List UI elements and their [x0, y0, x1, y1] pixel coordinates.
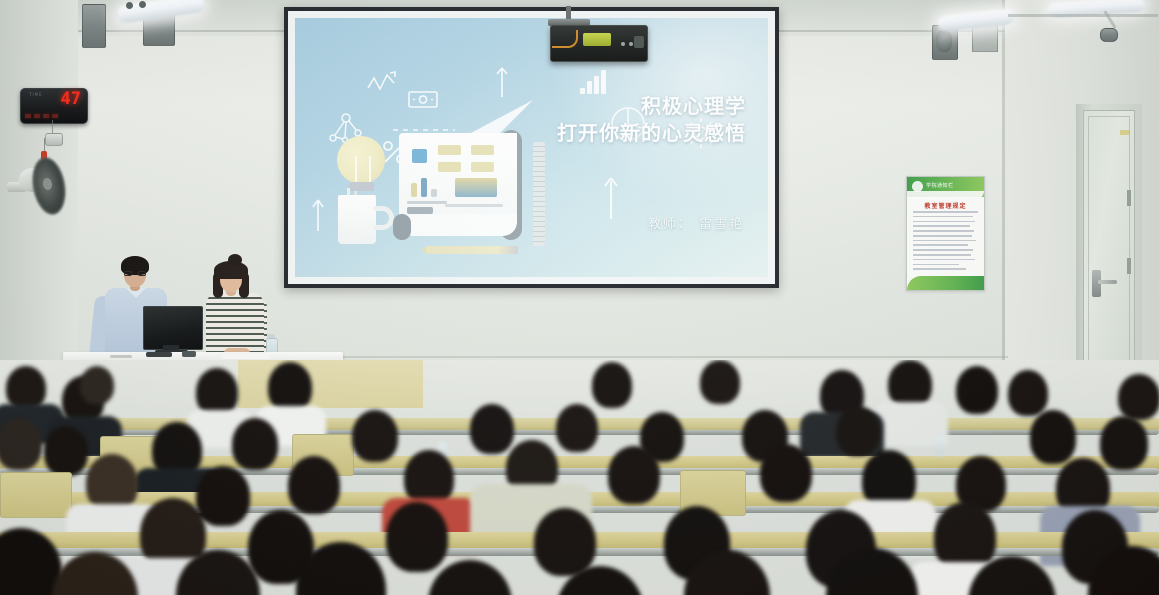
- audience-head: [470, 404, 514, 454]
- projector-display-panel: [583, 33, 611, 46]
- poster-title: 教室管理规定: [907, 201, 984, 210]
- document-curl: [399, 214, 517, 236]
- audience-head: [760, 444, 812, 502]
- audience-head: [836, 406, 880, 456]
- speaker-cone-icon: [936, 30, 952, 52]
- fan-cord: [44, 138, 45, 152]
- audience-head: [700, 360, 740, 404]
- audience-head: [80, 366, 114, 404]
- doc-line: [445, 204, 503, 207]
- ceiling-conduit: [1008, 14, 1158, 17]
- poster-header-text: 学院通知栏: [926, 182, 954, 189]
- chair-back: [0, 472, 72, 518]
- doc-bar: [421, 178, 427, 197]
- desk-cable: [110, 355, 132, 358]
- slide-title-line1: 积极心理学: [557, 93, 746, 120]
- lecture-hall-photo: TIME 47 88 88 88 88: [0, 0, 1159, 595]
- doc-bar: [431, 189, 437, 197]
- rear-board: [238, 360, 423, 408]
- clock-secondary-readout: 88 88 88 88: [25, 114, 83, 120]
- clock-segment: 88: [34, 114, 40, 120]
- door-hinge: [1127, 258, 1131, 274]
- clock-segment: 88: [25, 114, 31, 120]
- audience-area: [0, 360, 1159, 595]
- desk-papers: [222, 352, 270, 359]
- audience-head: [1008, 370, 1048, 416]
- wall-socket: [45, 133, 63, 146]
- audience-head: [44, 426, 88, 476]
- doc-tile: [412, 149, 427, 163]
- clock-digits: 47: [61, 91, 81, 108]
- audience-head: [1030, 410, 1076, 464]
- lightbulb-base: [349, 182, 374, 191]
- audience-head: [196, 466, 250, 526]
- audience-head: [534, 508, 596, 576]
- line-chart-icon: [367, 70, 407, 94]
- doc-tile: [471, 145, 494, 155]
- audience-head: [268, 362, 312, 412]
- audience-head: [888, 360, 932, 408]
- up-arrow-icon: [311, 198, 325, 232]
- doc-line: [407, 201, 447, 204]
- audience-head: [1100, 416, 1148, 470]
- doc-tile: [471, 162, 494, 172]
- door-sticker: [1120, 130, 1130, 135]
- audience-head: [608, 446, 660, 504]
- projector-indicator: [629, 42, 633, 46]
- glasses-icon: [124, 271, 146, 276]
- projector-lens-icon: [634, 36, 644, 48]
- light-endcap: [139, 1, 146, 8]
- presenter-monitor: [143, 306, 203, 350]
- slide-title-line2: 打开你新的心灵感悟: [557, 120, 746, 147]
- doc-tile: [438, 145, 461, 155]
- door-hinge: [1127, 190, 1131, 206]
- poster-body-text: [913, 211, 978, 273]
- audience-head: [0, 418, 42, 470]
- doc-tile: [438, 162, 461, 172]
- audience-head: [196, 368, 238, 416]
- audience-head: [352, 410, 398, 462]
- audience-head: [428, 560, 512, 595]
- audience-head: [386, 502, 448, 572]
- audience-head: [592, 362, 632, 408]
- speaker-icon: [1100, 28, 1118, 42]
- poster-header-wave: [907, 191, 984, 199]
- speaker-icon: [82, 4, 106, 48]
- clock-segment: 88: [43, 114, 49, 120]
- lightbulb-filament: [355, 156, 371, 184]
- slide-teacher-credit: 教师： 雷雪艳: [648, 213, 744, 232]
- money-icon: [408, 91, 438, 108]
- audience-head: [556, 404, 598, 452]
- up-arrow-icon: [495, 66, 509, 98]
- light-endcap: [126, 2, 133, 9]
- audience-head: [956, 366, 998, 414]
- projector-cable: [552, 30, 578, 48]
- clock-top-label: TIME: [29, 92, 43, 97]
- door-handle-icon[interactable]: [1098, 280, 1117, 284]
- remote-control[interactable]: [146, 352, 172, 357]
- led-wall-clock: TIME 47 88 88 88 88: [20, 88, 88, 124]
- audience-head: [1118, 374, 1159, 420]
- document-curl-shadow: [393, 214, 411, 240]
- slide-title: 积极心理学 打开你新的心灵感悟: [557, 93, 746, 147]
- desk-small-device: [182, 351, 196, 357]
- up-arrow-icon: [603, 176, 619, 220]
- presentation-slide: 积极心理学 打开你新的心灵感悟 教师： 雷雪艳: [295, 18, 768, 277]
- bar-chart-icon: [580, 70, 610, 94]
- audience-head: [288, 456, 340, 514]
- doc-line: [407, 207, 433, 214]
- projector-indicator: [621, 42, 625, 46]
- doc-image-icon: [455, 178, 497, 197]
- pencil-icon: [426, 246, 518, 254]
- water-bottle: [935, 436, 944, 456]
- ruler-icon: [533, 142, 545, 246]
- poster-footer-band: [907, 276, 984, 290]
- wall-notice-poster: 学院通知栏 教室管理规定: [906, 176, 985, 291]
- presenter-hair-bun: [228, 254, 242, 266]
- audience-head: [232, 418, 278, 470]
- mug-handle: [374, 206, 394, 230]
- mug-icon: [338, 195, 376, 244]
- doc-bar: [411, 183, 417, 197]
